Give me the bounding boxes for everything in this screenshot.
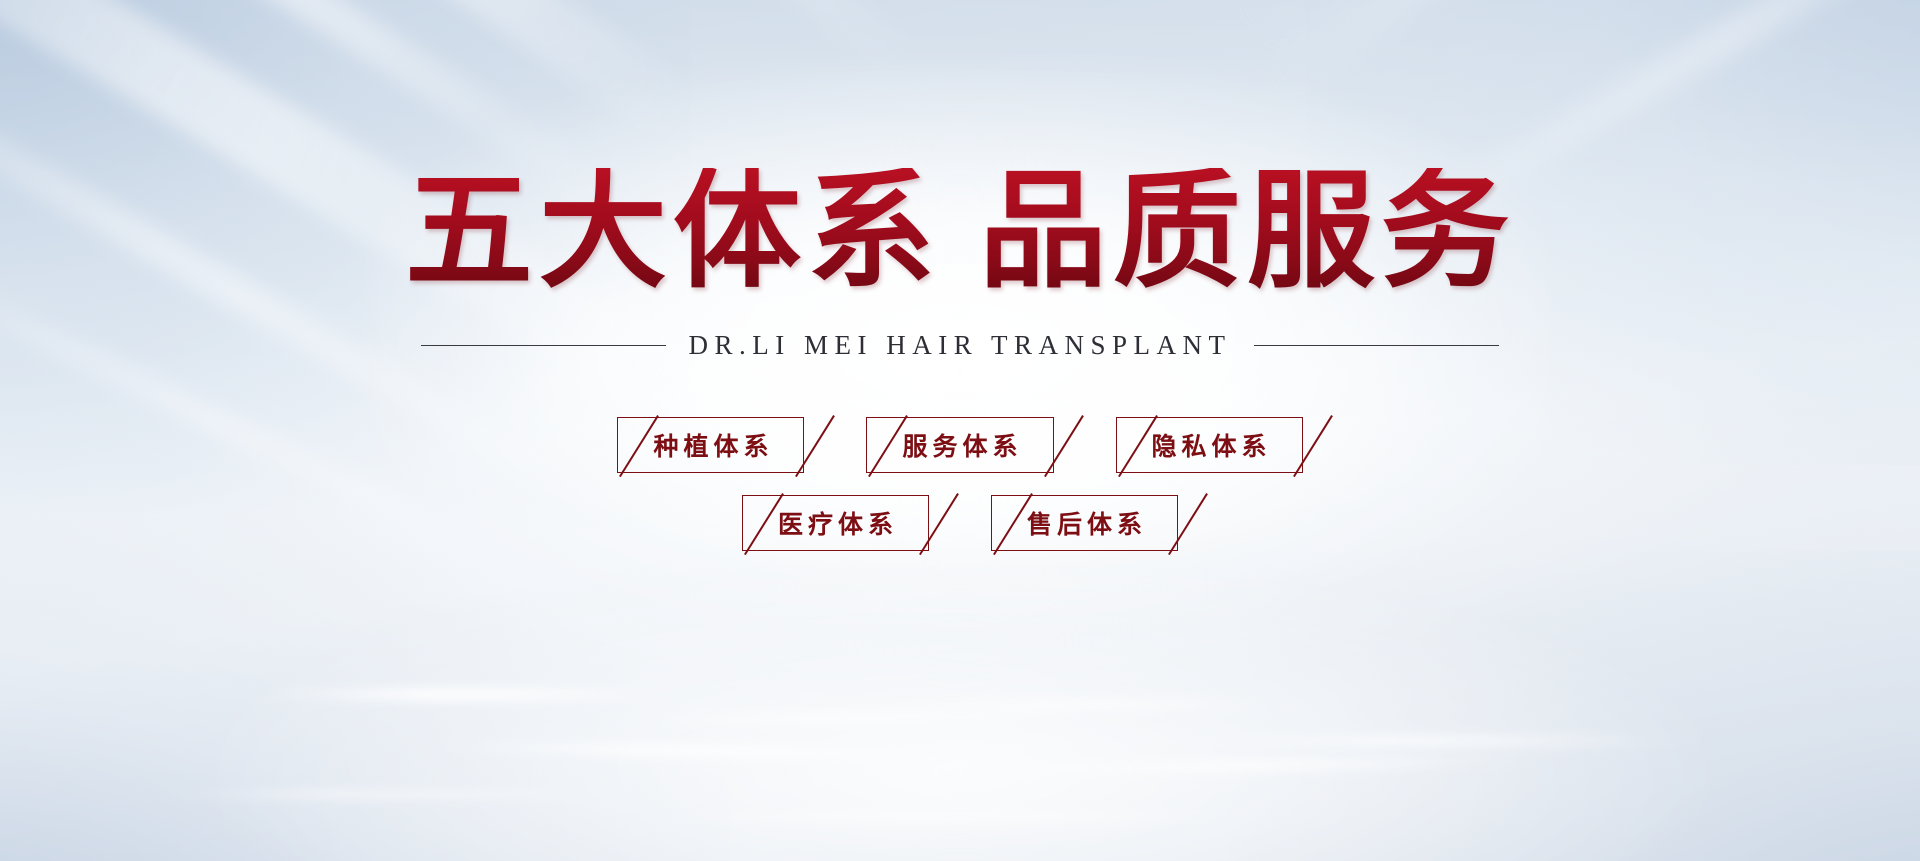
feature-tag-planting[interactable]: 种植体系 — [617, 417, 804, 473]
feature-tag-aftersales[interactable]: 售后体系 — [991, 495, 1178, 551]
feature-tag-group: 种植体系 服务体系 隐私体系 医疗体系 — [586, 417, 1333, 551]
feature-tag-service[interactable]: 服务体系 — [866, 417, 1053, 473]
banner-content: 五大体系 品质服务 DR.LI MEI HAIR TRANSPLANT 种植体系… — [0, 0, 1920, 861]
banner-subtitle-row: DR.LI MEI HAIR TRANSPLANT — [350, 330, 1570, 361]
feature-tag-label: 售后体系 — [1022, 505, 1147, 541]
feature-tag-label: 隐私体系 — [1147, 427, 1272, 463]
promo-banner: 五大体系 品质服务 DR.LI MEI HAIR TRANSPLANT 种植体系… — [0, 0, 1920, 861]
slash-icon — [795, 415, 835, 477]
slash-icon — [919, 493, 959, 555]
subtitle-rule-right — [1254, 345, 1499, 346]
slash-icon — [1293, 415, 1333, 477]
feature-tag-label: 种植体系 — [648, 427, 773, 463]
feature-tag-row-1: 种植体系 服务体系 隐私体系 — [586, 417, 1333, 473]
feature-tag-medical[interactable]: 医疗体系 — [742, 495, 929, 551]
feature-tag-label: 医疗体系 — [773, 505, 898, 541]
banner-headline: 五大体系 品质服务 — [405, 168, 1515, 296]
feature-tag-label: 服务体系 — [897, 427, 1022, 463]
slash-icon — [1044, 415, 1084, 477]
banner-subtitle: DR.LI MEI HAIR TRANSPLANT — [666, 330, 1253, 361]
feature-tag-privacy[interactable]: 隐私体系 — [1116, 417, 1303, 473]
subtitle-rule-left — [421, 345, 666, 346]
feature-tag-row-2: 医疗体系 售后体系 — [711, 495, 1209, 551]
slash-icon — [1168, 493, 1208, 555]
